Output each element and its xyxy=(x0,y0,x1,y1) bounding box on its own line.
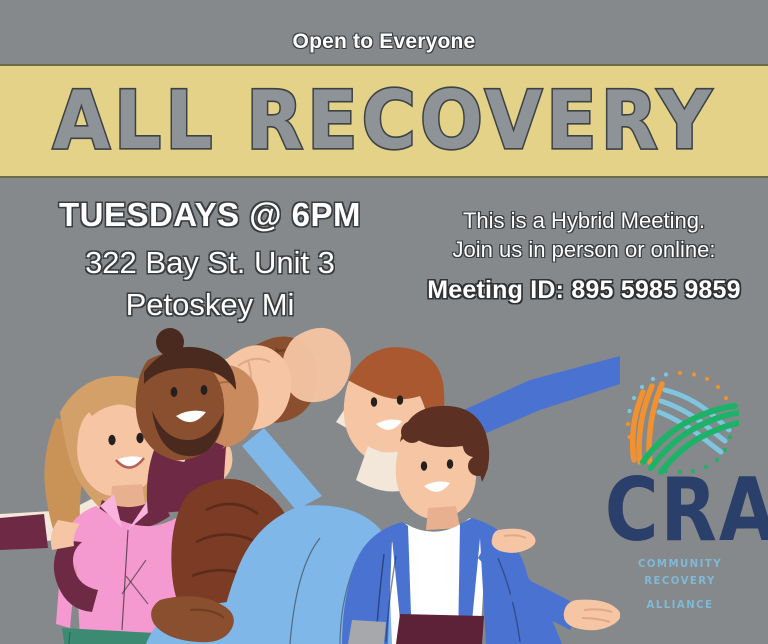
meeting-day-time: TUESDAYS @ 6PM xyxy=(0,196,420,234)
group-high-five-illustration xyxy=(0,314,620,644)
meeting-id-text: Meeting ID: 895 5985 9859 xyxy=(400,276,768,305)
page-title: ALL RECOVERY xyxy=(53,81,715,161)
cra-logo-letters: CRA xyxy=(605,472,755,552)
address-line-2: Petoskey Mi xyxy=(0,284,420,326)
hybrid-line-1: This is a Hybrid Meeting. xyxy=(400,206,768,235)
hybrid-line-2: Join us in person or online: xyxy=(400,235,768,264)
address-line-1: 322 Bay St. Unit 3 xyxy=(0,242,420,284)
title-banner: ALL RECOVERY xyxy=(0,64,768,178)
cra-logo-subtitle-line-1: COMMUNITY RECOVERY xyxy=(606,555,753,589)
tagline-text: Open to Everyone xyxy=(0,30,768,54)
cra-logo: CRA COMMUNITY RECOVERY ALLIANCE xyxy=(600,366,760,601)
hybrid-block: This is a Hybrid Meeting. Join us in per… xyxy=(400,206,768,305)
schedule-block: TUESDAYS @ 6PM 322 Bay St. Unit 3 Petosk… xyxy=(0,196,420,326)
cra-logo-subtitle-line-2: ALLIANCE xyxy=(606,596,753,613)
poster-root: Open to Everyone ALL RECOVERY TUESDAYS @… xyxy=(0,0,768,644)
